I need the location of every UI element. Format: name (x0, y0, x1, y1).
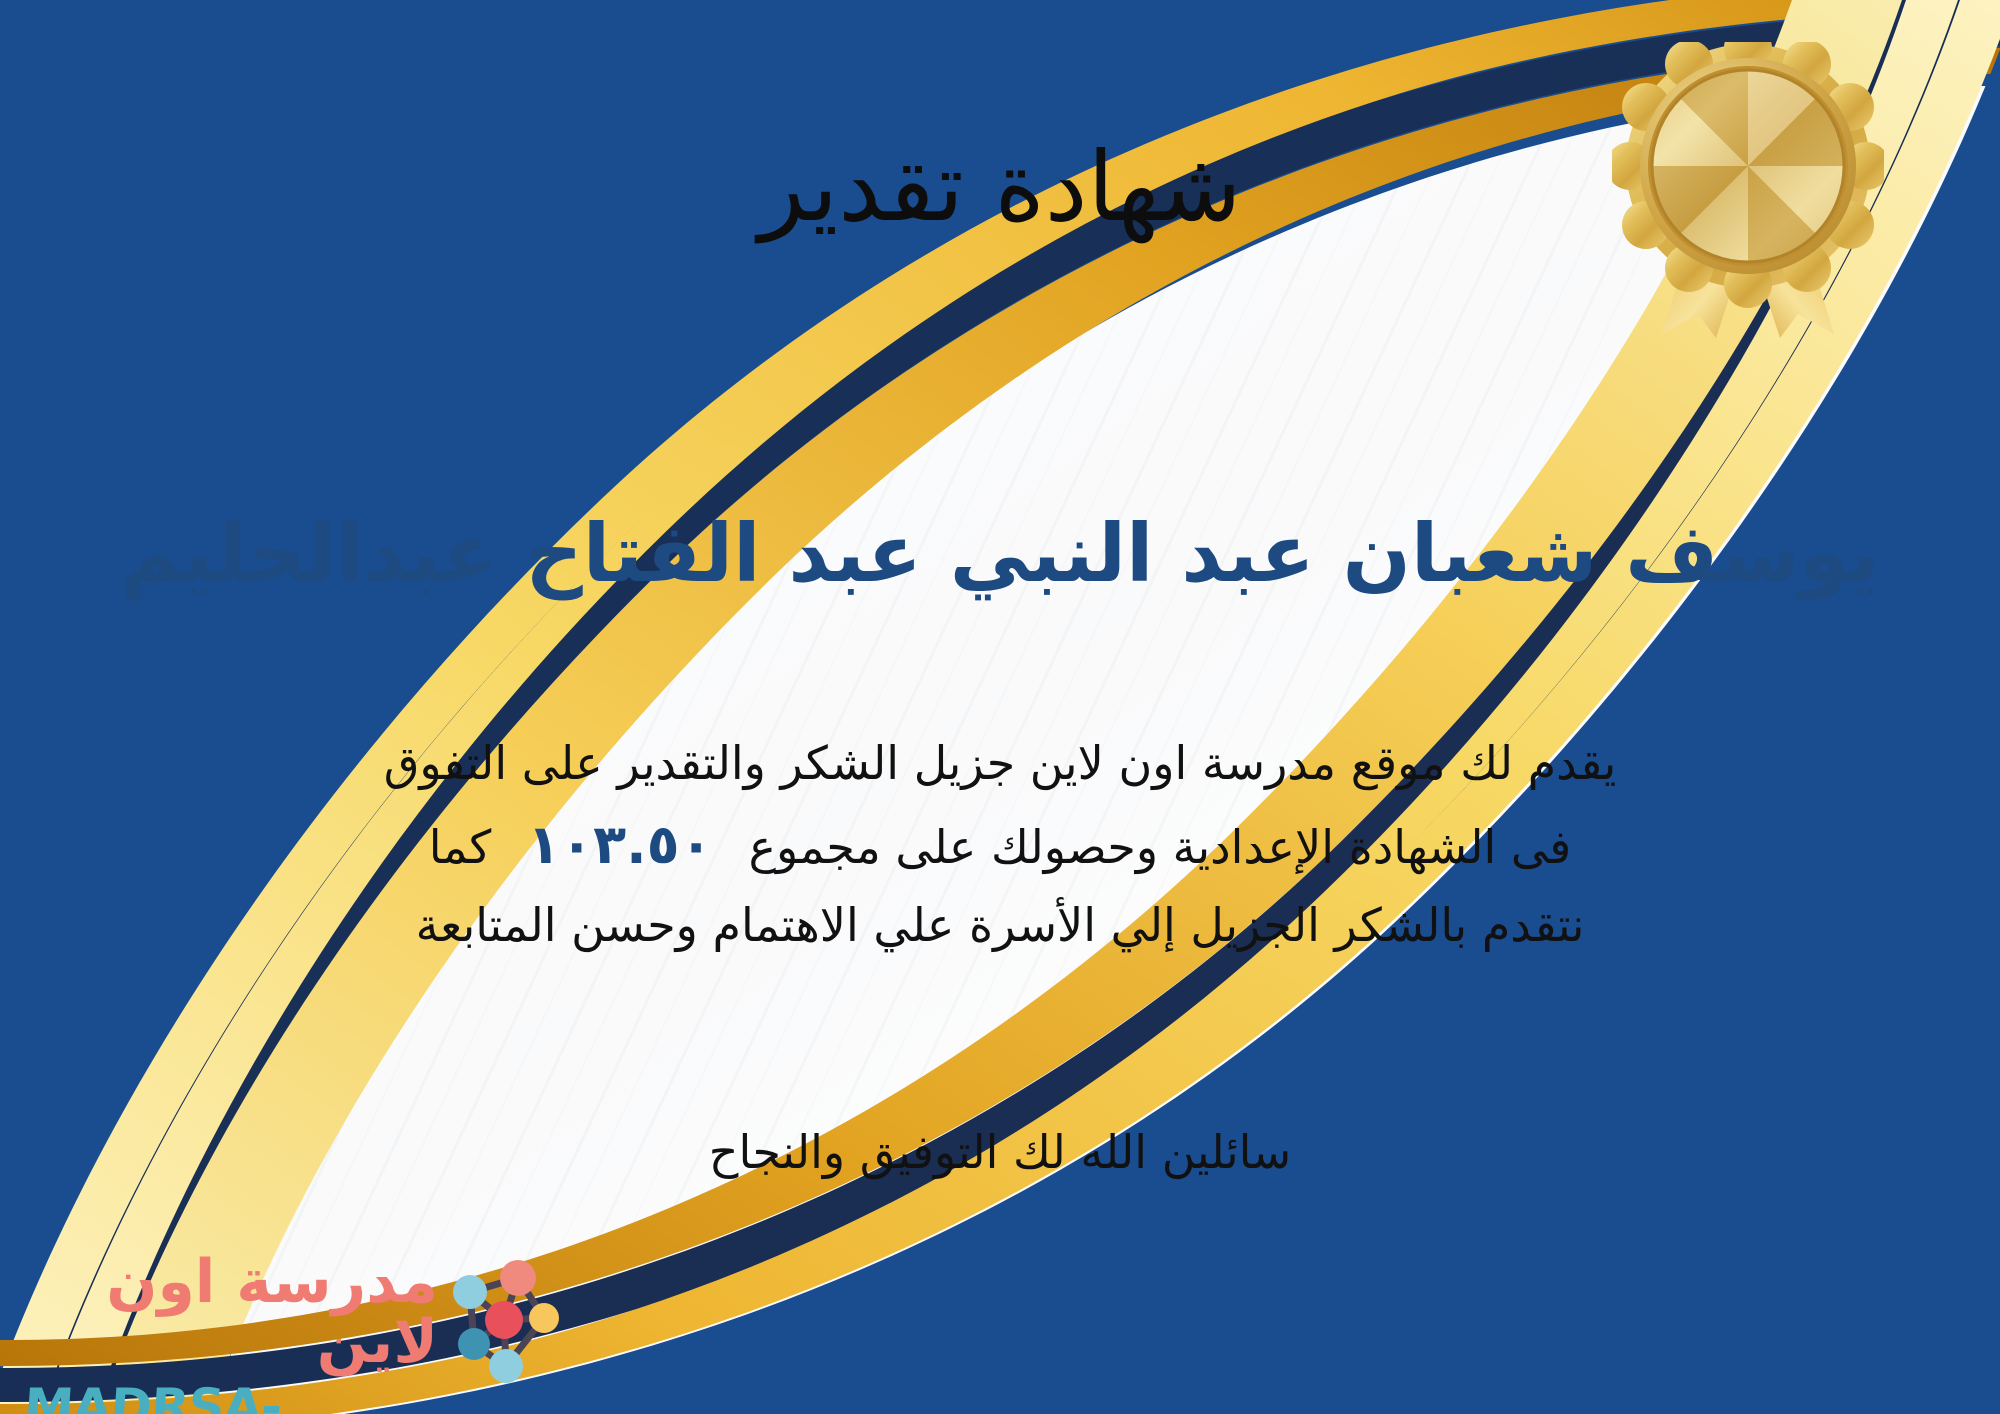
logo-text-group: مدرسة اون لاين MADRSA-ONLINE.COM (22, 1252, 442, 1414)
node-lightblue (453, 1275, 487, 1309)
body-line-2-suffix: كما (429, 820, 492, 874)
node-yellow (529, 1303, 559, 1333)
body-line-3: نتقدم بالشكر الجزيل إلي الأسرة علي الاهت… (60, 888, 1940, 963)
recipient-name: يوسف شعبان عبد النبي عبد الفتاح عبدالحلي… (0, 506, 2000, 602)
certificate-title: شهادة تقدير (0, 132, 2000, 242)
node-red (485, 1301, 523, 1339)
certificate-page: شهادة تقدير يوسف شعبان عبد النبي عبد الف… (0, 0, 2000, 1414)
certificate-body: يقدم لك موقع مدرسة اون لاين جزيل الشكر و… (60, 726, 1940, 963)
node-teal (458, 1328, 490, 1360)
logo-arabic-name: مدرسة اون لاين (22, 1252, 442, 1372)
score-value: ١٠٣.٥٠ (491, 813, 748, 876)
site-logo[interactable]: مدرسة اون لاين MADRSA-ONLINE.COM (22, 1252, 562, 1402)
node-salmon (500, 1260, 536, 1296)
node-skyblue (489, 1349, 523, 1383)
closing-line: سائلين الله لك التوفيق والنجاح (0, 1125, 2000, 1179)
body-line-2: فى الشهادة الإعدادية وحصولك على مجموع١٠٣… (60, 801, 1940, 888)
logo-domain-text: MADRSA-ONLINE.COM (18, 1378, 446, 1414)
body-line-1: يقدم لك موقع مدرسة اون لاين جزيل الشكر و… (60, 726, 1940, 801)
body-line-2-prefix: فى الشهادة الإعدادية وحصولك على مجموع (749, 820, 1572, 874)
network-nodes-icon (440, 1254, 562, 1386)
